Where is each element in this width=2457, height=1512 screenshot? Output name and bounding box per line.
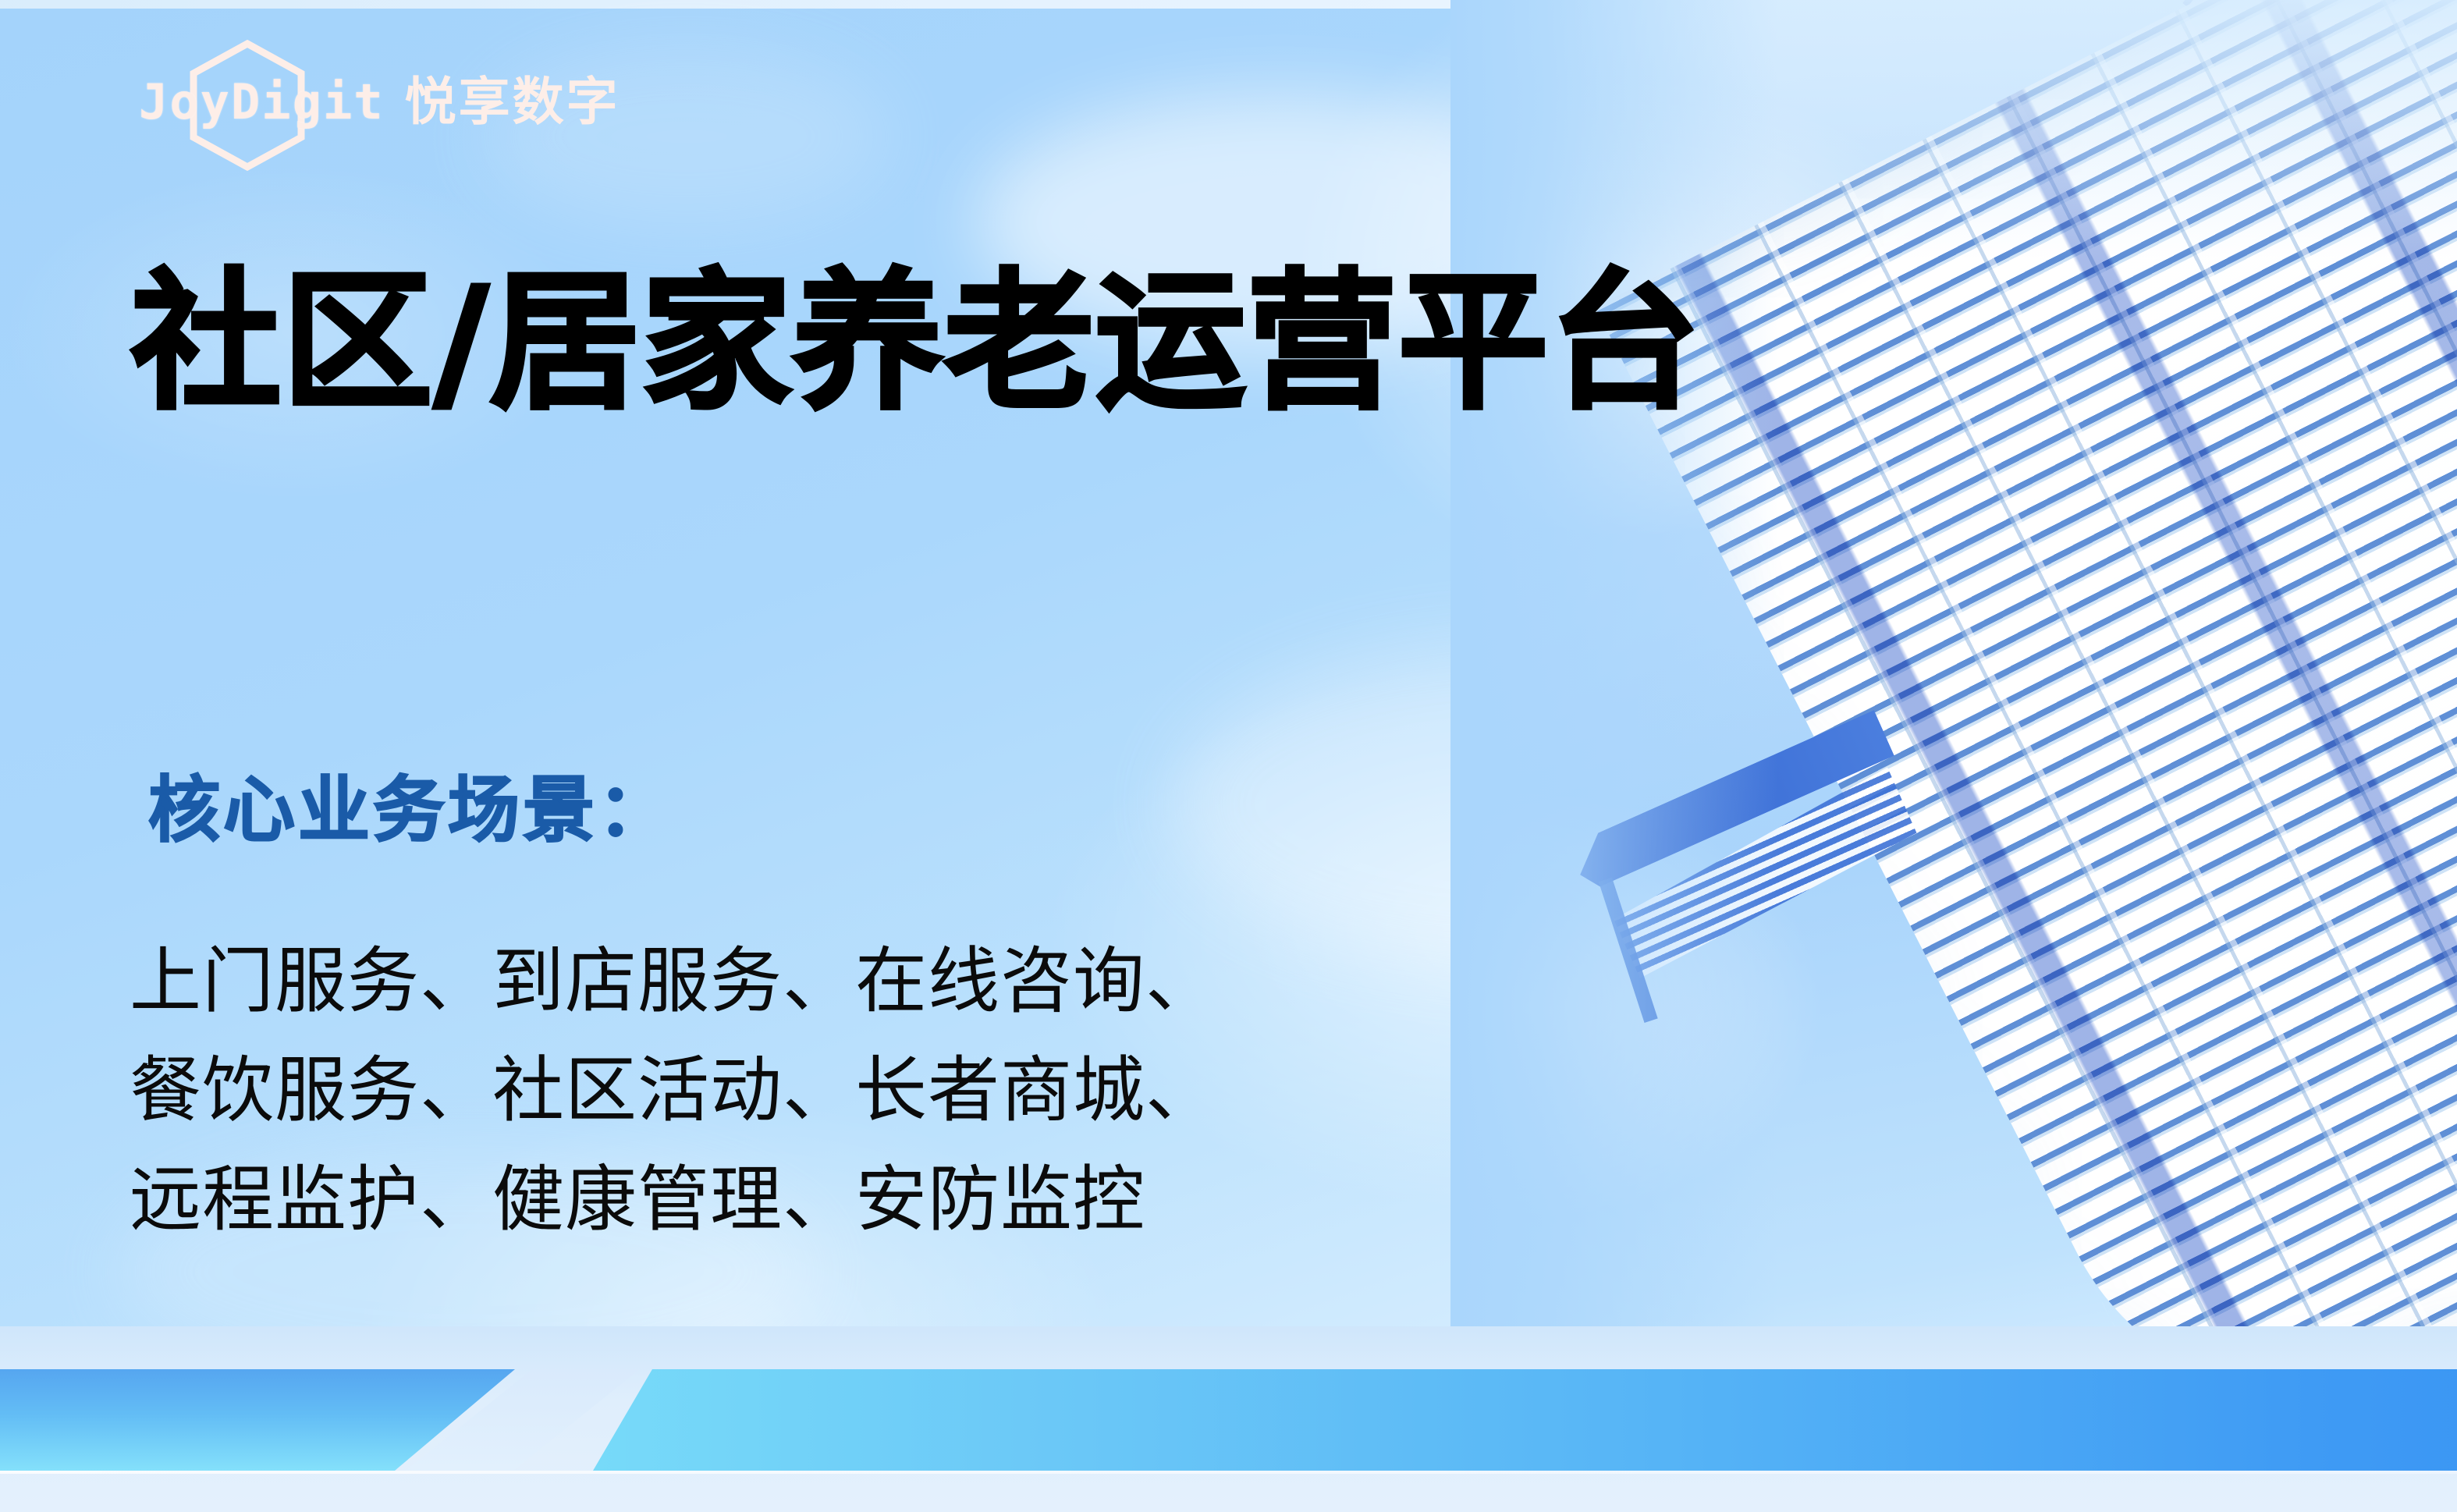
building-photo — [1450, 0, 2457, 1397]
ribbon-band-right — [593, 1369, 2457, 1471]
brand-logo: JoyDigit 悦享数字 — [139, 69, 620, 136]
section-label: 核心业务场景： — [148, 771, 673, 850]
page-title: 社区/居家养老运营平台 — [131, 264, 1701, 423]
ribbon-separator — [0, 1471, 2457, 1474]
scenario-line: 餐饮服务、社区活动、长者商城、 — [130, 1036, 1218, 1145]
bottom-ribbon — [0, 1326, 2457, 1512]
wordmark-text: JoyDigit — [139, 78, 385, 126]
scenario-line: 远程监护、健康管理、安防监控 — [130, 1145, 1218, 1255]
photo-left-fade — [1450, 0, 1778, 1397]
scenario-line: 上门服务、到店服务、在线咨询、 — [130, 927, 1218, 1036]
brand-name-cn: 悦享数字 — [405, 76, 620, 128]
slide-canvas: JoyDigit 悦享数字 社区/居家养老运营平台 核心业务场景： 上门服务、到… — [0, 0, 2457, 1512]
scenario-list: 上门服务、到店服务、在线咨询、 餐饮服务、社区活动、长者商城、 远程监护、健康管… — [130, 927, 1218, 1254]
